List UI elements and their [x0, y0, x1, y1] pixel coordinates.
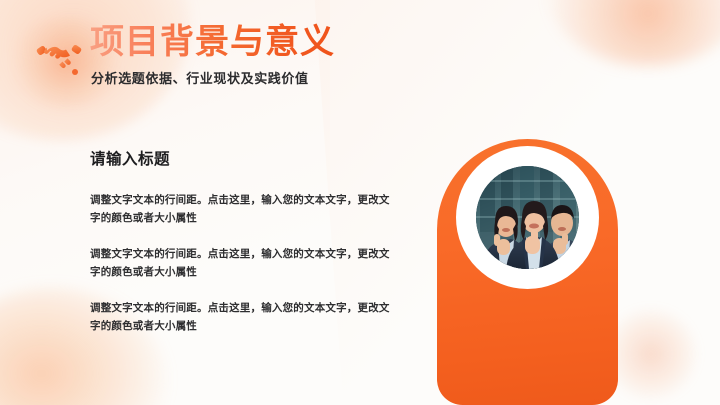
glow-top-right	[548, 0, 720, 66]
team-thumbs-up-photo	[476, 166, 579, 269]
page-title: 项目背景与意义	[90, 22, 335, 62]
photo-ring	[456, 146, 599, 289]
orange-arch-shape	[437, 139, 618, 405]
content-heading: 请输入标题	[90, 150, 410, 170]
slide-header: 项目背景与意义 分析选题依据、行业现状及实践价值	[0, 0, 460, 110]
handshake-icon	[36, 38, 82, 72]
content-paragraph: 调整文字文本的行间距。点击这里，输入您的文本文字，更改文字的颜色或者大小属性	[90, 299, 398, 335]
content-paragraph: 调整文字文本的行间距。点击这里，输入您的文本文字，更改文字的颜色或者大小属性	[90, 245, 398, 281]
accent-dot-icon	[72, 69, 78, 75]
glow-bottom-right	[604, 308, 698, 400]
slide-canvas: 项目背景与意义 分析选题依据、行业现状及实践价值 请输入标题 调整文字文本的行间…	[0, 0, 720, 405]
page-subtitle: 分析选题依据、行业现状及实践价值	[91, 68, 309, 87]
content-paragraph: 调整文字文本的行间距。点击这里，输入您的文本文字，更改文字的颜色或者大小属性	[90, 191, 398, 227]
content-text-block: 请输入标题 调整文字文本的行间距。点击这里，输入您的文本文字，更改文字的颜色或者…	[90, 150, 410, 335]
